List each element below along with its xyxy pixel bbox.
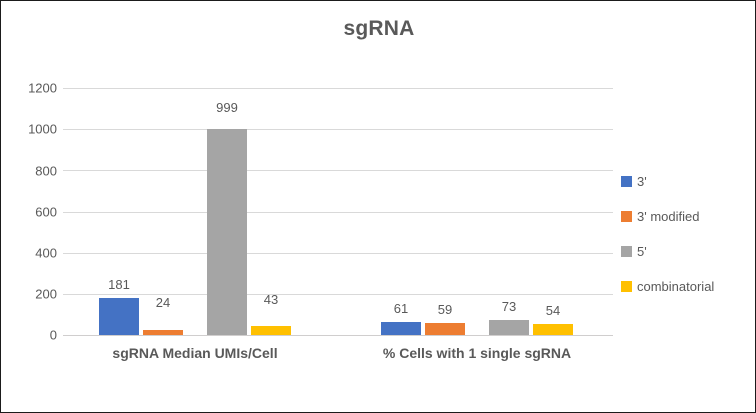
gridline-800 [63, 170, 613, 171]
y-tick-1200: 1200 [9, 81, 57, 96]
y-tick-1000: 1000 [9, 122, 57, 137]
legend-item-5prime[interactable]: 5' [621, 234, 714, 269]
bar-group2-3prime[interactable] [381, 322, 421, 335]
bar-group2-3prime-modified[interactable] [425, 323, 465, 335]
data-label-group2-3prime-modified: 59 [438, 302, 452, 317]
data-label-group1-5prime: 999 [216, 100, 238, 115]
gridline-400 [63, 253, 613, 254]
legend-swatch-combinatorial [621, 281, 632, 292]
data-label-group2-3prime: 61 [394, 301, 408, 316]
gridline-1200 [63, 88, 613, 89]
y-axis: 1200 1000 800 600 400 200 0 [1, 1, 57, 413]
bar-group2-5prime[interactable] [489, 320, 529, 335]
legend-swatch-3prime-modified [621, 211, 632, 222]
chart-container: sgRNA 1200 1000 800 600 400 200 0 181 24… [0, 0, 756, 413]
y-tick-800: 800 [9, 164, 57, 179]
bar-group2-combinatorial[interactable] [533, 324, 573, 335]
legend-label-3prime: 3' [637, 174, 647, 189]
plot-area [63, 88, 613, 335]
y-tick-600: 600 [9, 205, 57, 220]
legend-label-3prime-modified: 3' modified [637, 209, 699, 224]
legend-item-3prime[interactable]: 3' [621, 164, 714, 199]
data-label-group1-combinatorial: 43 [264, 292, 278, 307]
legend-label-5prime: 5' [637, 244, 647, 259]
legend: 3' 3' modified 5' combinatorial [621, 164, 714, 304]
legend-label-combinatorial: combinatorial [637, 279, 714, 294]
bar-group1-5prime[interactable] [207, 129, 247, 335]
legend-swatch-3prime [621, 176, 632, 187]
chart-title: sgRNA [1, 17, 756, 41]
x-axis-line [63, 335, 613, 336]
gridline-200 [63, 294, 613, 295]
gridline-600 [63, 212, 613, 213]
data-label-group2-combinatorial: 54 [546, 303, 560, 318]
data-label-group2-5prime: 73 [502, 299, 516, 314]
legend-item-combinatorial[interactable]: combinatorial [621, 269, 714, 304]
data-label-group1-3prime: 181 [108, 277, 130, 292]
category-label-0: sgRNA Median UMIs/Cell [112, 345, 277, 361]
data-label-group1-3prime-modified: 24 [156, 295, 170, 310]
legend-item-3prime-modified[interactable]: 3' modified [621, 199, 714, 234]
y-tick-0: 0 [9, 328, 57, 343]
y-tick-200: 200 [9, 287, 57, 302]
category-label-1: % Cells with 1 single sgRNA [383, 345, 571, 361]
bar-group1-3prime[interactable] [99, 298, 139, 335]
legend-swatch-5prime [621, 246, 632, 257]
bar-group1-combinatorial[interactable] [251, 326, 291, 335]
y-tick-400: 400 [9, 246, 57, 261]
gridline-1000 [63, 129, 613, 130]
